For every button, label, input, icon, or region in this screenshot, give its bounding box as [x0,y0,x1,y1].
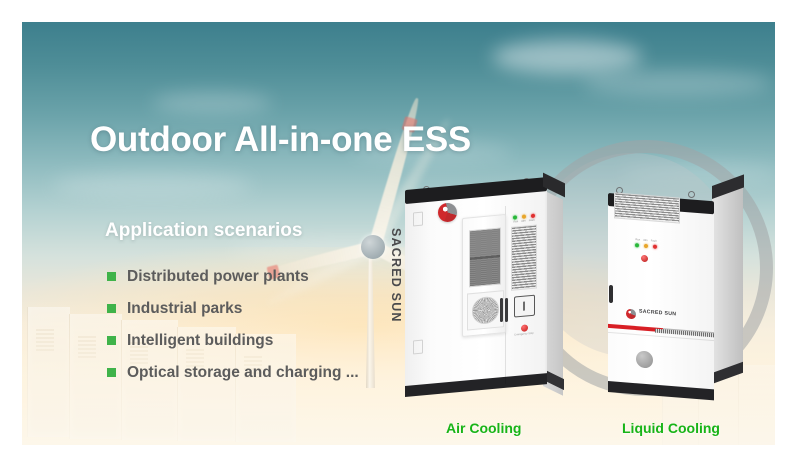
list-item-label: Optical storage and charging ... [127,364,359,382]
led-alarm-icon [644,244,648,248]
bullet-square-icon [107,336,116,345]
list-item: Distributed power plants [107,263,359,290]
caption-liquid-cooling: Liquid Cooling [622,420,720,436]
cloud-decoration [492,40,642,74]
door-handle[interactable] [500,298,503,322]
emergency-stop-label: Emergency Stop [509,331,539,337]
sacred-sun-logo-icon [626,309,636,320]
led-fault-icon [531,214,535,218]
cabinet-latch[interactable] [413,212,423,227]
fan-housing [467,290,504,330]
cloud-decoration [52,172,252,198]
fan-icon [472,296,499,325]
led-run-label: Run [635,238,640,241]
control-column: Run Alm Fault Emergency Stop [509,211,539,342]
led-fault-label: Fault [651,239,657,242]
cabinet-front-panel [608,205,714,391]
list-item: Industrial parks [107,295,359,322]
section-subtitle: Application scenarios [105,220,302,242]
emergency-stop-button[interactable] [641,255,648,263]
door-handle[interactable] [505,298,508,322]
bullet-square-icon [107,272,116,281]
led-alarm-icon [522,214,526,218]
led-alarm-label: Alm [521,219,525,222]
led-run-label: Run [513,220,518,223]
product-air-cooling-cabinet[interactable]: SACRED SUN Run Alm Fault [405,190,561,402]
application-scenarios-list: Distributed power plants Industrial park… [107,263,359,391]
led-fault-icon [653,245,657,249]
air-intake-grille-icon [469,227,501,287]
list-item-label: Distributed power plants [127,268,309,286]
led-fault-label: Fault [529,219,535,223]
sacred-sun-logo-icon [438,203,457,222]
led-run-icon [635,243,639,247]
bullet-square-icon [107,368,116,377]
list-item: Intelligent buildings [107,327,359,354]
page-title: Outdoor All-in-one ESS [90,120,471,160]
banner-photo: SACRED SUN Run Alm Fault [22,22,775,445]
emergency-stop-button[interactable] [521,324,528,332]
cloud-decoration [582,70,772,96]
brand-text: SACRED SUN [389,228,403,318]
banner-slide: SACRED SUN Run Alm Fault [0,0,800,469]
door-handle[interactable] [609,285,613,303]
bullet-square-icon [107,304,116,313]
ventilation-grille-icon [511,224,537,290]
lifting-eyelet-icon [688,191,695,198]
control-display-panel[interactable] [514,295,535,318]
list-item-label: Intelligent buildings [127,332,273,350]
turbine-hub [361,235,385,259]
caption-air-cooling: Air Cooling [446,420,521,436]
cloud-decoration [152,92,272,114]
list-item-label: Industrial parks [127,300,242,318]
list-item: Optical storage and charging ... [107,359,359,386]
product-liquid-cooling-cabinet[interactable]: Run Alm Fault SACRED SUN [600,185,746,403]
cabinet-latch[interactable] [413,340,423,355]
turbine-tower [366,248,375,388]
led-alarm-label: Alm [643,239,647,242]
cabinet-side-panel [712,186,743,380]
round-handle-knob[interactable] [636,350,653,368]
led-run-icon [513,215,517,219]
ventilation-grille-icon [614,192,680,223]
